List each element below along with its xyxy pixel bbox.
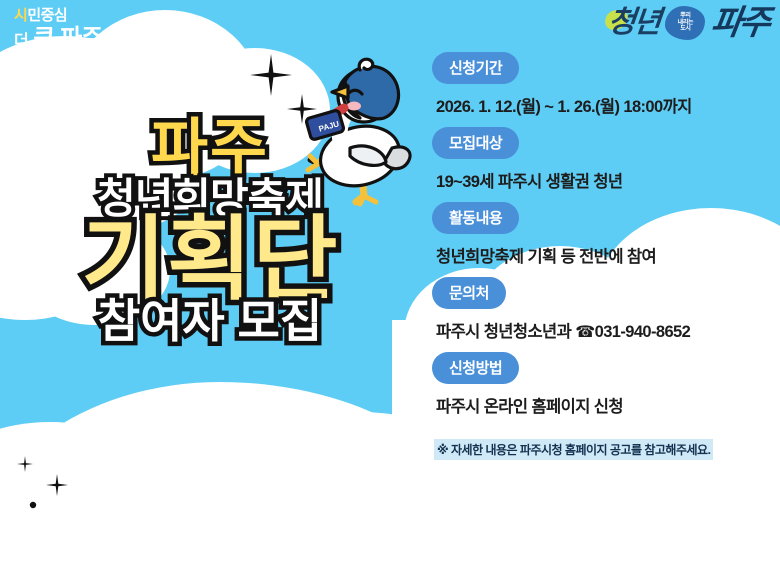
brand-word-youth: 청년	[607, 8, 661, 38]
info-group-application-period: 신청기간 2026. 1. 12.(월) ~ 1. 26.(월) 18:00까지	[432, 52, 772, 117]
cloud-base	[0, 382, 490, 562]
brand-word-paju: 파주	[709, 6, 770, 40]
sparkle-icon	[44, 472, 70, 498]
text-target: 19~39세 파주시 생활권 청년	[436, 168, 772, 192]
sparkle-icon	[16, 455, 34, 473]
telephone-icon: ☎	[575, 324, 594, 341]
badge-line-2: 내리는	[678, 20, 694, 26]
badge-line-1: 뿌리	[680, 13, 690, 19]
contact-department: 파주시 청년청소년과	[436, 323, 575, 341]
badge-line-3: 도시	[680, 26, 690, 32]
text-application-period: 2026. 1. 12.(월) ~ 1. 26.(월) 18:00까지	[436, 93, 772, 117]
badge-application-period: 신청기간	[432, 52, 519, 84]
paju-city-slogan-logo: 시민중심 더 큰 파주	[14, 8, 102, 51]
info-group-how-to-apply: 신청방법 파주시 온라인 홈페이지 신청	[432, 352, 772, 417]
cloud-shape	[0, 422, 220, 562]
text-contact: 파주시 청년청소년과 ☎031-940-8652	[436, 318, 772, 342]
info-column: 신청기간 2026. 1. 12.(월) ~ 1. 26.(월) 18:00까지…	[432, 52, 772, 460]
poster-canvas: 시민중심 더 큰 파주 청년 뿌리 내리는 도시 파주 파주 청년희망축제 기획…	[0, 0, 780, 562]
slogan-bottom: 더 큰 파주	[14, 27, 102, 51]
slogan-top-rest: 민중심	[27, 7, 67, 24]
crane-mascot-illustration: PAJU	[288, 52, 438, 217]
brand-badge: 뿌리 내리는 도시	[665, 6, 705, 40]
dot-icon	[28, 500, 38, 510]
badge-how-to-apply: 신청방법	[432, 352, 519, 384]
info-group-target: 모집대상 19~39세 파주시 생활권 청년	[432, 127, 772, 192]
badge-contact: 문의처	[432, 277, 506, 309]
badge-text: 뿌리 내리는 도시	[678, 13, 694, 34]
title-line-planning-team: 기획단	[0, 214, 420, 306]
badge-target: 모집대상	[432, 127, 519, 159]
youth-city-brand-logo: 청년 뿌리 내리는 도시 파주	[608, 6, 768, 40]
text-activity: 청년희망축제 기획 등 전반에 참여	[436, 243, 772, 267]
contact-phone-number: 031-940-8652	[595, 323, 691, 341]
info-group-activity: 활동내용 청년희망축제 기획 등 전반에 참여	[432, 202, 772, 267]
text-how-to-apply: 파주시 온라인 홈페이지 신청	[436, 393, 772, 417]
slogan-bottom-main: 큰 파주	[33, 25, 102, 52]
info-group-contact: 문의처 파주시 청년청소년과 ☎031-940-8652	[432, 277, 772, 342]
footnote-notice: ※ 자세한 내용은 파주시청 홈페이지 공고를 참고해주세요.	[434, 439, 713, 460]
slogan-bottom-small: 더	[14, 33, 28, 50]
slogan-top: 시민중심	[14, 8, 102, 23]
title-line-recruit: 참여자 모집	[0, 298, 420, 344]
badge-activity: 활동내용	[432, 202, 519, 234]
slogan-accent-char: 시	[14, 7, 27, 24]
